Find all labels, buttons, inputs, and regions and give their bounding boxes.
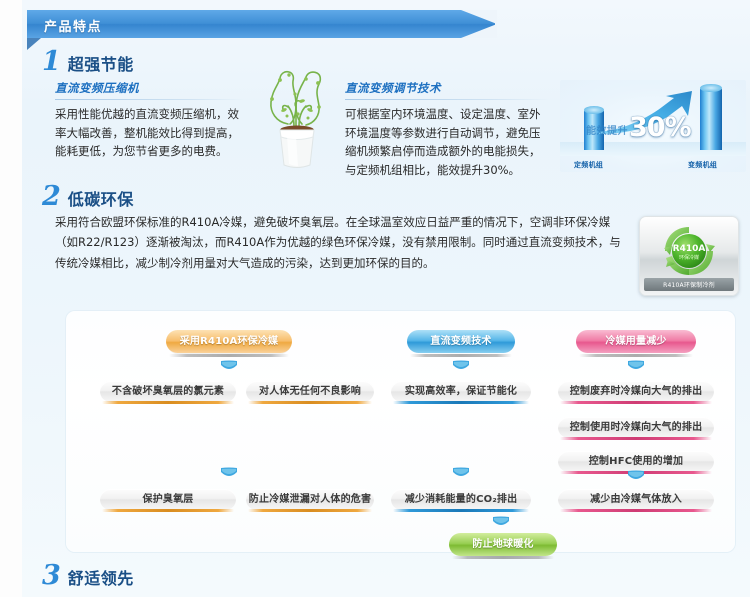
section-1-number: 1 <box>42 48 61 75</box>
section-2-title: 低碳环保 <box>68 186 134 210</box>
recycling-r410a-icon: R410A 环保冷媒 <box>662 224 716 278</box>
left-gutter <box>0 0 22 597</box>
node-shadow <box>452 556 554 559</box>
diagram-node-protect-ozone: 保护臭氧层 <box>100 489 236 510</box>
section-2-paragraph: 采用符合欧盟环保标准的R410A冷媒，避免破坏臭氧层。在全球温室效应日益严重的情… <box>55 212 630 273</box>
section-1-right-column: 直流变频调节技术 可根据室内环境温度、设定温度、室外环境温度等参数进行自动调节，… <box>345 80 550 180</box>
section-2-heading: 2 低碳环保 <box>42 183 134 210</box>
chevron-down-icon <box>219 359 239 375</box>
vine-lightbulb-plant-icon <box>258 66 336 170</box>
diagram-header-refrigerant-reduction: 冷媒用量减少 <box>576 330 696 353</box>
chart-annotation-value: 30% <box>629 116 691 140</box>
chart-xtick-fixed: 定频机组 <box>574 160 603 170</box>
dc-inverter-regulation-body: 可根据室内环境温度、设定温度、室外环境温度等参数进行自动调节，避免压缩机频繁启停… <box>345 105 550 180</box>
diagram-node-control-usage-emission: 控制使用时冷媒向大气的排出 <box>558 417 714 438</box>
chevron-down-icon <box>219 466 239 482</box>
diagram-conclusion-prevent-global-warming: 防止地球暖化 <box>449 533 557 556</box>
section-3-heading: 3 舒适领先 <box>42 562 134 589</box>
energy-efficiency-bar-chart: 能效提升 30% 定频机组 变频机组 <box>560 80 746 172</box>
node-underline <box>393 401 529 404</box>
diagram-header-dc-inverter: 直流变频技术 <box>407 330 515 353</box>
badge-caption-text: R410A环保制冷剂 <box>663 280 715 289</box>
dc-inverter-compressor-subtitle: 直流变频压缩机 <box>55 80 245 96</box>
chevron-down-icon <box>626 359 646 375</box>
chart-annotation: 能效提升 30% <box>586 116 691 140</box>
node-underline <box>102 509 234 512</box>
section-1-heading: 1 超强节能 <box>42 48 134 75</box>
node-shadow <box>169 354 289 357</box>
diagram-node-no-chlorine: 不含破坏臭氧层的氯元素 <box>100 381 236 402</box>
node-underline <box>560 401 712 404</box>
dc-inverter-compressor-body: 采用性能优越的直流变频压缩机，效率大幅改善，整机能效比得到提高，能耗更低，为您节… <box>55 105 245 161</box>
section-1-left-column: 直流变频压缩机 采用性能优越的直流变频压缩机，效率大幅改善，整机能效比得到提高，… <box>55 80 245 161</box>
banner-title: 产品特点 <box>44 16 102 35</box>
diagram-node-high-efficiency: 实现高效率，保证节能化 <box>391 381 531 402</box>
chevron-down-icon <box>626 469 646 485</box>
section-1-title: 超强节能 <box>68 51 134 75</box>
node-shadow <box>410 354 512 357</box>
chevron-down-icon <box>491 515 511 531</box>
product-feature-page: 产品特点 1 超强节能 直流变频压缩机 采用性能优越的直流变频压缩机，效率大幅改… <box>0 0 750 597</box>
subtitle-divider <box>55 99 245 100</box>
node-underline <box>560 509 712 512</box>
diagram-node-reduce-co2: 减少消耗能量的CO₂排出 <box>391 489 531 510</box>
r410a-badge: R410A 环保冷媒 R410A环保制冷剂 <box>639 216 739 296</box>
section-2-number: 2 <box>42 183 61 210</box>
node-shadow <box>579 354 693 357</box>
chevron-down-icon <box>451 466 471 482</box>
svg-text:环保冷媒: 环保冷媒 <box>679 254 699 261</box>
node-underline <box>248 401 372 404</box>
node-underline <box>102 401 234 404</box>
section-3-number: 3 <box>42 562 61 589</box>
node-underline <box>248 509 372 512</box>
node-underline <box>560 437 712 440</box>
chevron-down-icon <box>451 359 471 375</box>
section-3-title: 舒适领先 <box>68 565 134 589</box>
diagram-header-r410a: 采用R410A环保冷媒 <box>166 330 292 353</box>
eco-flow-diagram-panel: 采用R410A环保冷媒 不含破坏臭氧层的氯元素 对人体无任何不良影响 保护臭氧层… <box>66 311 735 552</box>
diagram-node-prevent-leak-harm: 防止冷媒泄漏对人体的危害 <box>246 489 374 510</box>
chart-xtick-inverter: 变频机组 <box>688 160 717 170</box>
badge-caption: R410A环保制冷剂 <box>644 278 734 291</box>
diagram-node-reduce-refrigerant-release: 减少由冷媒气体放入 <box>558 489 714 510</box>
subtitle-divider <box>345 99 550 100</box>
diagram-node-no-harm-body: 对人体无任何不良影响 <box>246 381 374 402</box>
banner-fold-icon <box>27 38 41 50</box>
diagram-node-control-disposal-emission: 控制废弃时冷媒向大气的排出 <box>558 381 714 402</box>
node-underline <box>393 509 529 512</box>
chart-annotation-small: 能效提升 <box>586 122 628 137</box>
svg-text:R410A: R410A <box>673 244 706 254</box>
dc-inverter-regulation-subtitle: 直流变频调节技术 <box>345 80 550 96</box>
